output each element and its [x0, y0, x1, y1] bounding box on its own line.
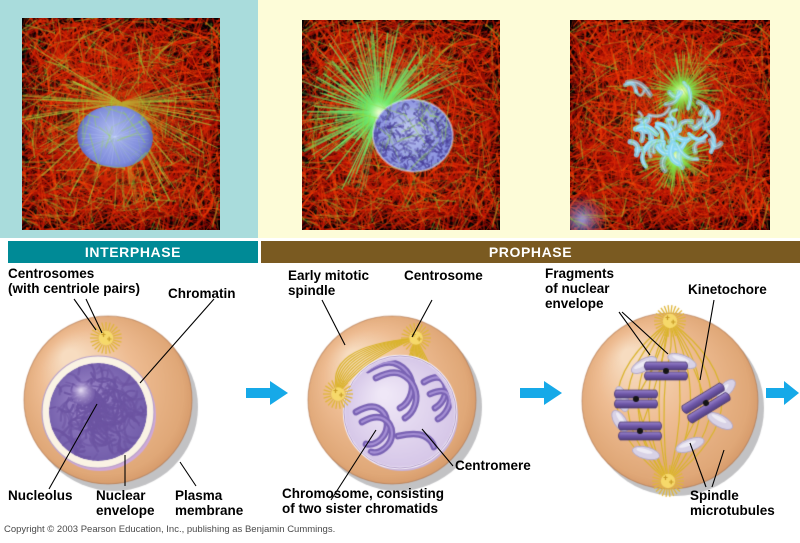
micrograph-prometaphase: [570, 20, 770, 230]
label-spindle-microtubules: Spindle microtubules: [690, 488, 775, 518]
micrograph-interphase: [22, 18, 220, 230]
label-nuclear-envelope-fragments: Fragments of nuclear envelope: [545, 266, 614, 311]
label-kinetochore: Kinetochore: [688, 282, 767, 297]
label-nucleolus: Nucleolus: [8, 488, 73, 503]
label-nuclear-envelope: Nuclear envelope: [96, 488, 155, 518]
cell-diagram-interphase: [12, 308, 242, 508]
stage-label-prophase-text: PROPHASE: [489, 244, 572, 260]
stage-label-interphase: INTERPHASE: [8, 241, 258, 263]
cell-diagram-prophase: [292, 308, 522, 508]
label-early-mitotic-spindle: Early mitotic spindle: [288, 268, 369, 298]
label-chromatin: Chromatin: [168, 286, 236, 301]
label-plasma-membrane: Plasma membrane: [175, 488, 243, 518]
stage-label-prophase: PROPHASE: [261, 241, 800, 263]
stage-label-interphase-text: INTERPHASE: [85, 244, 181, 260]
arrow-prometaphase-to-next: [766, 380, 800, 406]
copyright-notice: Copyright © 2003 Pearson Education, Inc.…: [4, 524, 335, 535]
micrograph-prophase: [302, 20, 500, 230]
label-centromere: Centromere: [455, 458, 531, 473]
label-centrosome: Centrosome: [404, 268, 483, 283]
arrow-interphase-to-prophase: [246, 380, 290, 406]
label-chromosome: Chromosome, consisting of two sister chr…: [282, 486, 444, 516]
arrow-prophase-to-prometaphase: [520, 380, 564, 406]
label-centrosomes: Centrosomes (with centriole pairs): [8, 266, 140, 296]
mitosis-figure: INTERPHASE PROPHASE: [0, 0, 800, 543]
